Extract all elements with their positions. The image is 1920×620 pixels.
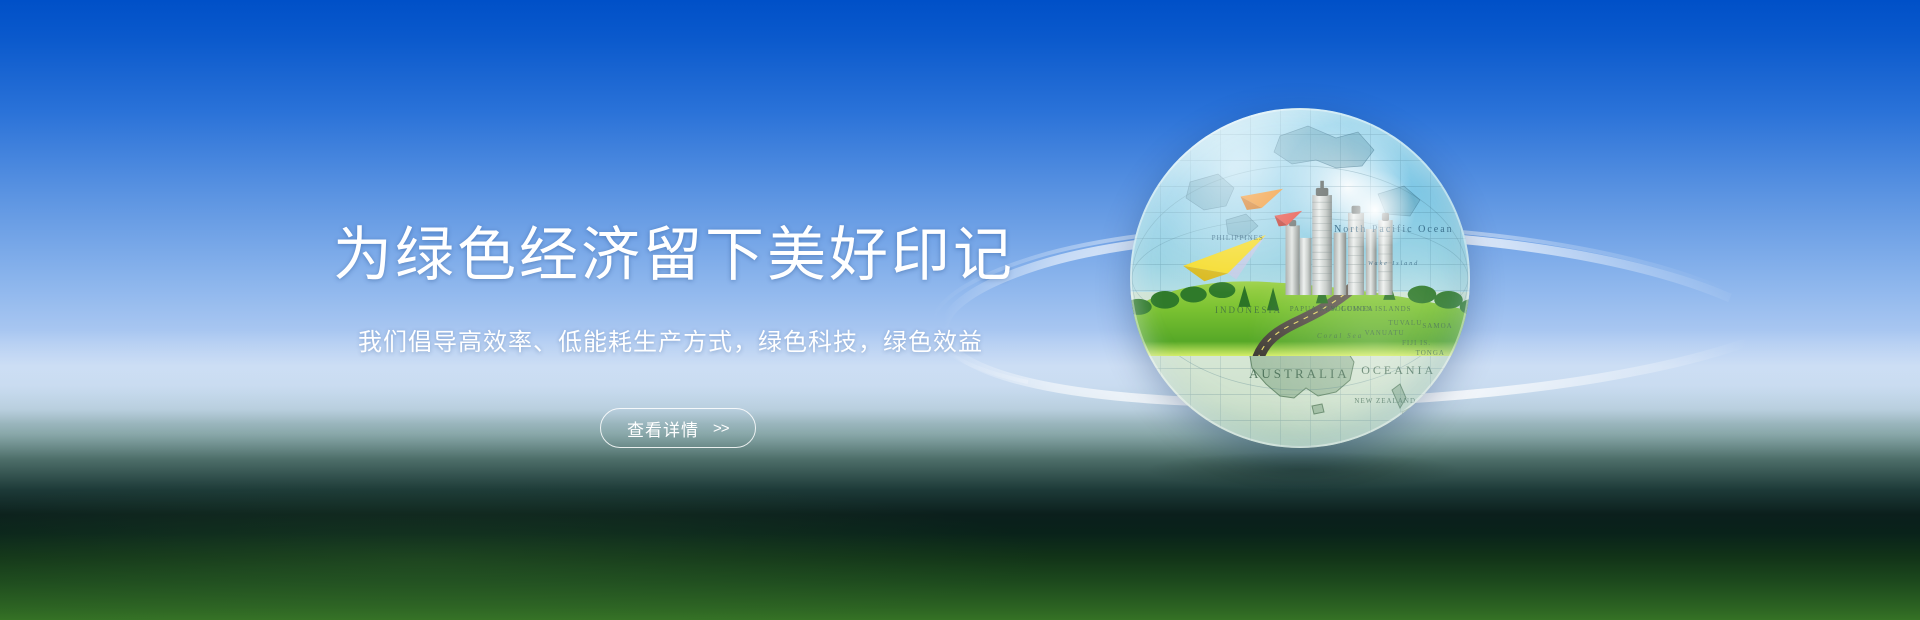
view-details-button[interactable]: 查看详情 >> (600, 408, 756, 448)
banner-subheadline: 我们倡导高效率、低能耗生产方式，绿色科技，绿色效益 (358, 328, 983, 359)
view-details-label: 查看详情 (627, 416, 699, 441)
banner-copy: 为绿色经济留下美好印记 我们倡导高效率、低能耗生产方式，绿色科技，绿色效益 查看… (0, 0, 1040, 620)
double-chevron-right-icon: >> (713, 420, 729, 437)
paper-planes (1164, 183, 1334, 299)
hero-banner: 为绿色经济留下美好印记 我们倡导高效率、低能耗生产方式，绿色科技，绿色效益 查看… (0, 0, 1920, 620)
banner-headline: 为绿色经济留下美好印记 (333, 222, 1015, 288)
globe-illustration: North Pacific Ocean Wake Island PHILIPPI… (1130, 108, 1470, 458)
ground-glow (0, 420, 1920, 620)
yellow-paper-plane-icon (1183, 235, 1266, 281)
orange-paper-plane-icon (1241, 189, 1284, 210)
red-paper-plane-icon (1275, 211, 1303, 226)
glass-globe: North Pacific Ocean Wake Island PHILIPPI… (1130, 108, 1470, 448)
